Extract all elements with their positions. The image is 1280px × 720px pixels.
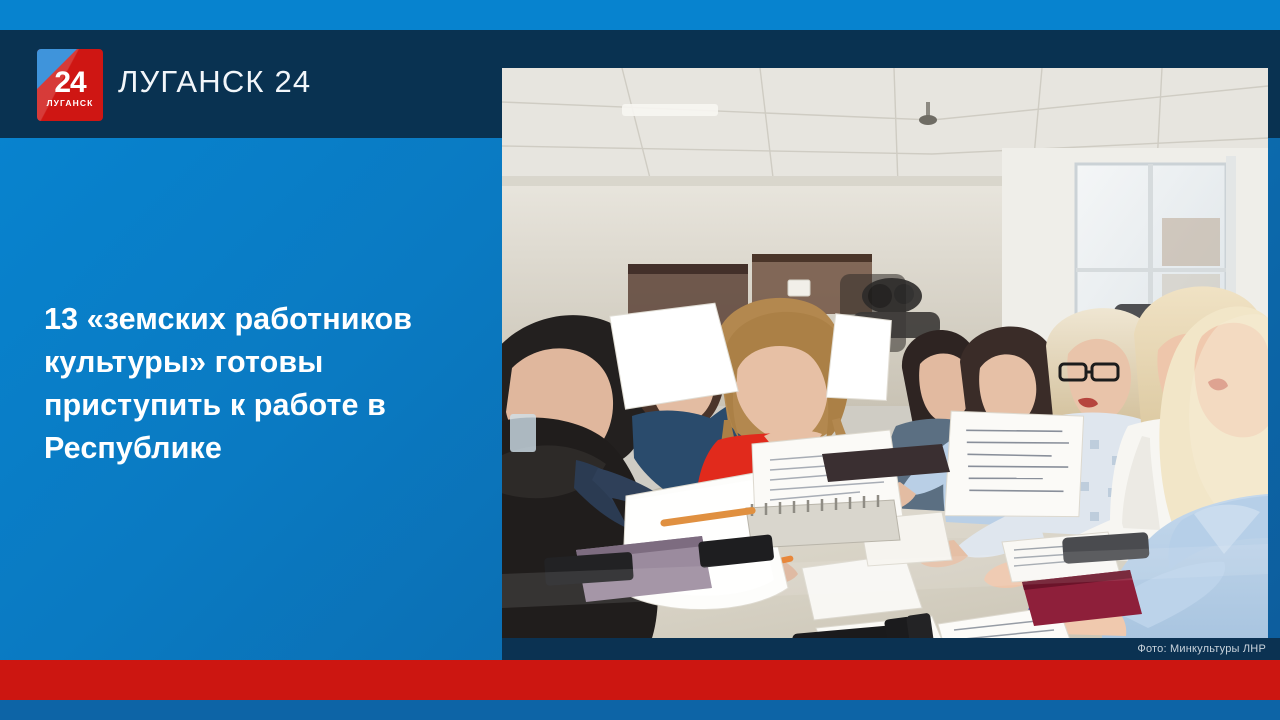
bottom-red-bar [0, 660, 1280, 700]
luhansk24-logo[interactable]: 24 ЛУГАНСК [37, 49, 103, 121]
brand-title: ЛУГАНСК 24 [118, 66, 311, 97]
news-photo [502, 68, 1268, 638]
news-photo-illustration [502, 68, 1268, 638]
photo-credit: Фото: Минкультуры ЛНР [1137, 639, 1266, 659]
bottom-blue-bar [0, 700, 1280, 720]
headline: 13 «земских работников культуры» готовы … [44, 298, 474, 470]
news-card: 24 ЛУГАНСК ЛУГАНСК 24 13 «земских работн… [0, 0, 1280, 720]
top-accent-bar [0, 0, 1280, 30]
logo-number: 24 [37, 68, 103, 98]
logo-city-label: ЛУГАНСК [37, 99, 103, 108]
